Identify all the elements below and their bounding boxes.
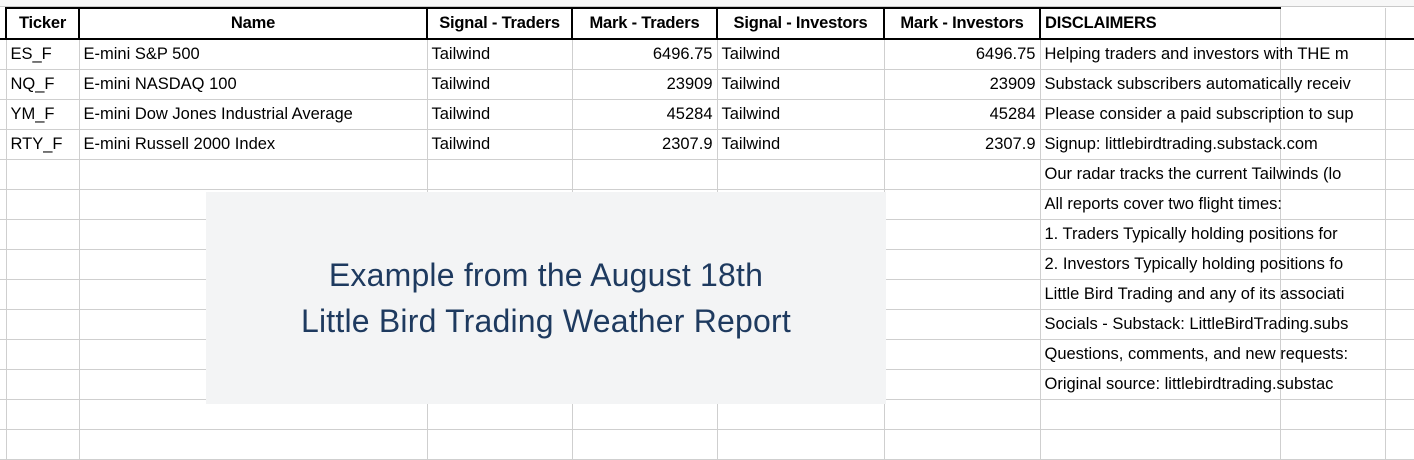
cell-ticker[interactable] [6, 370, 79, 400]
disclaimer-text: Original source: littlebirdtrading.subst… [1045, 370, 1334, 399]
cell-mark-traders[interactable] [572, 430, 717, 460]
cell-ticker[interactable]: ES_F [6, 39, 79, 70]
cell-mark-investors[interactable] [884, 250, 1040, 280]
cell-disclaimer[interactable]: 2. Investors Typically holding positions… [1040, 250, 1280, 280]
cell-mark-investors[interactable] [884, 400, 1040, 430]
cell-blank-2[interactable] [1385, 250, 1414, 280]
cell-name[interactable]: E-mini S&P 500 [79, 39, 427, 70]
cell-ticker[interactable] [6, 280, 79, 310]
cell-mark-traders[interactable]: 23909 [572, 70, 717, 100]
cell-disclaimer[interactable]: Questions, comments, and new requests: [1040, 340, 1280, 370]
cell-name[interactable]: E-mini Dow Jones Industrial Average [79, 100, 427, 130]
cell-signal-traders[interactable]: Tailwind [427, 100, 572, 130]
disclaimer-text: Socials - Substack: LittleBirdTrading.su… [1045, 310, 1349, 339]
disclaimer-text: Our radar tracks the current Tailwinds (… [1045, 160, 1342, 189]
cell-disclaimer[interactable] [1040, 400, 1280, 430]
cell-signal-investors[interactable] [717, 160, 884, 190]
cell-signal-traders[interactable] [427, 430, 572, 460]
overlay-line-2: Little Bird Trading Weather Report [301, 298, 791, 344]
cell-name[interactable]: E-mini Russell 2000 Index [79, 130, 427, 160]
cell-ticker[interactable] [6, 250, 79, 280]
cell-name[interactable] [79, 160, 427, 190]
cell-blank-2[interactable] [1385, 310, 1414, 340]
cell-blank-1[interactable] [1280, 430, 1385, 460]
cell-blank-2[interactable] [1385, 430, 1414, 460]
cell-blank-2[interactable] [1385, 160, 1414, 190]
cell-ticker[interactable] [6, 160, 79, 190]
cell-mark-investors[interactable] [884, 430, 1040, 460]
cell-disclaimer[interactable] [1040, 430, 1280, 460]
disclaimer-text: Helping traders and investors with THE m [1045, 40, 1349, 69]
cell-name[interactable] [79, 430, 427, 460]
disclaimer-text: 1. Traders Typically holding positions f… [1045, 220, 1338, 249]
cell-mark-investors[interactable] [884, 310, 1040, 340]
column-header-signal-traders[interactable]: Signal - Traders [427, 8, 572, 39]
cell-signal-investors[interactable]: Tailwind [717, 70, 884, 100]
cell-blank-2[interactable] [1385, 370, 1414, 400]
disclaimer-text: Questions, comments, and new requests: [1045, 340, 1349, 369]
cell-mark-investors[interactable] [884, 280, 1040, 310]
cell-signal-investors[interactable]: Tailwind [717, 130, 884, 160]
cell-ticker[interactable] [6, 190, 79, 220]
cell-disclaimer[interactable]: Socials - Substack: LittleBirdTrading.su… [1040, 310, 1280, 340]
table-row[interactable]: YM_FE-mini Dow Jones Industrial AverageT… [0, 100, 1414, 130]
cell-disclaimer[interactable]: 1. Traders Typically holding positions f… [1040, 220, 1280, 250]
spreadsheet-sheet[interactable]: TickerNameSignal - TradersMark - Traders… [0, 0, 1414, 448]
cell-disclaimer[interactable]: Little Bird Trading and any of its assoc… [1040, 280, 1280, 310]
cell-mark-traders[interactable] [572, 160, 717, 190]
column-header-name[interactable]: Name [79, 8, 427, 39]
cell-mark-investors[interactable]: 23909 [884, 70, 1040, 100]
cell-mark-investors[interactable] [884, 190, 1040, 220]
cell-mark-investors[interactable] [884, 370, 1040, 400]
cell-signal-traders[interactable] [427, 400, 572, 430]
column-header-mark-investors[interactable]: Mark - Investors [884, 8, 1040, 39]
cell-signal-investors[interactable] [717, 430, 884, 460]
cell-disclaimer[interactable]: Signup: littlebirdtrading.substack.com [1040, 130, 1280, 160]
cell-mark-investors[interactable]: 45284 [884, 100, 1040, 130]
cell-mark-investors[interactable]: 6496.75 [884, 39, 1040, 70]
cell-ticker[interactable]: NQ_F [6, 70, 79, 100]
cell-ticker[interactable] [6, 430, 79, 460]
table-row[interactable]: ES_FE-mini S&P 500Tailwind6496.75Tailwin… [0, 39, 1414, 70]
cell-signal-traders[interactable] [427, 160, 572, 190]
cell-blank-2[interactable] [1385, 70, 1414, 100]
cell-name[interactable] [79, 400, 427, 430]
column-header-ticker[interactable]: Ticker [6, 8, 79, 39]
cell-signal-traders[interactable]: Tailwind [427, 130, 572, 160]
cell-mark-traders[interactable]: 45284 [572, 100, 717, 130]
overlay-line-1: Example from the August 18th [329, 252, 763, 298]
cell-name[interactable]: E-mini NASDAQ 100 [79, 70, 427, 100]
cell-blank-2[interactable] [1385, 220, 1414, 250]
cell-mark-investors[interactable] [884, 340, 1040, 370]
cell-disclaimer[interactable]: Helping traders and investors with THE m [1040, 39, 1280, 70]
cell-ticker[interactable] [6, 310, 79, 340]
cell-ticker[interactable] [6, 340, 79, 370]
cell-blank-2[interactable] [1385, 190, 1414, 220]
cell-disclaimer[interactable]: All reports cover two flight times: [1040, 190, 1280, 220]
cell-signal-investors[interactable]: Tailwind [717, 100, 884, 130]
header-blank-2[interactable] [1385, 8, 1414, 39]
cell-disclaimer[interactable]: Substack subscribers automatically recei… [1040, 70, 1280, 100]
disclaimer-text: Substack subscribers automatically recei… [1045, 70, 1351, 99]
table-row[interactable]: NQ_FE-mini NASDAQ 100Tailwind23909Tailwi… [0, 70, 1414, 100]
cell-ticker[interactable]: YM_F [6, 100, 79, 130]
cell-mark-traders[interactable]: 6496.75 [572, 39, 717, 70]
table-row[interactable] [0, 400, 1414, 430]
cell-mark-traders[interactable] [572, 400, 717, 430]
cell-mark-investors[interactable] [884, 160, 1040, 190]
cell-disclaimer[interactable]: Original source: littlebirdtrading.subst… [1040, 370, 1280, 400]
table-row[interactable]: Our radar tracks the current Tailwinds (… [0, 160, 1414, 190]
header-blank-1[interactable] [1280, 8, 1385, 39]
disclaimer-text: Little Bird Trading and any of its assoc… [1045, 280, 1345, 309]
cell-blank-2[interactable] [1385, 100, 1414, 130]
cell-mark-investors[interactable]: 2307.9 [884, 130, 1040, 160]
disclaimer-text: 2. Investors Typically holding positions… [1045, 250, 1344, 279]
disclaimer-text: All reports cover two flight times: [1045, 190, 1283, 219]
caption-overlay: Example from the August 18th Little Bird… [206, 192, 886, 404]
cell-mark-investors[interactable] [884, 220, 1040, 250]
cell-blank-1[interactable] [1280, 190, 1385, 220]
cell-ticker[interactable] [6, 220, 79, 250]
column-header-signal-investors[interactable]: Signal - Investors [717, 8, 884, 39]
header-row: TickerNameSignal - TradersMark - Traders… [0, 8, 1414, 39]
table-row[interactable]: RTY_FE-mini Russell 2000 IndexTailwind23… [0, 130, 1414, 160]
cell-blank-2[interactable] [1385, 39, 1414, 70]
cell-mark-traders[interactable]: 2307.9 [572, 130, 717, 160]
cell-disclaimer[interactable]: Our radar tracks the current Tailwinds (… [1040, 160, 1280, 190]
table-row[interactable] [0, 430, 1414, 460]
cell-disclaimer[interactable]: Please consider a paid subscription to s… [1040, 100, 1280, 130]
disclaimer-text: Signup: littlebirdtrading.substack.com [1045, 130, 1318, 159]
cell-blank-2[interactable] [1385, 130, 1414, 160]
scrolled-row-sliver [0, 0, 1414, 7]
cell-blank-2[interactable] [1385, 280, 1414, 310]
cell-ticker[interactable] [6, 400, 79, 430]
cell-blank-2[interactable] [1385, 400, 1414, 430]
cell-signal-investors[interactable] [717, 400, 884, 430]
cell-signal-traders[interactable]: Tailwind [427, 39, 572, 70]
cell-signal-traders[interactable]: Tailwind [427, 70, 572, 100]
cell-signal-investors[interactable]: Tailwind [717, 39, 884, 70]
column-header-mark-traders[interactable]: Mark - Traders [572, 8, 717, 39]
cell-blank-1[interactable] [1280, 400, 1385, 430]
cell-ticker[interactable]: RTY_F [6, 130, 79, 160]
cell-blank-2[interactable] [1385, 340, 1414, 370]
column-header-disclaimers[interactable]: DISCLAIMERS [1040, 8, 1280, 39]
disclaimer-text: Please consider a paid subscription to s… [1045, 100, 1354, 129]
